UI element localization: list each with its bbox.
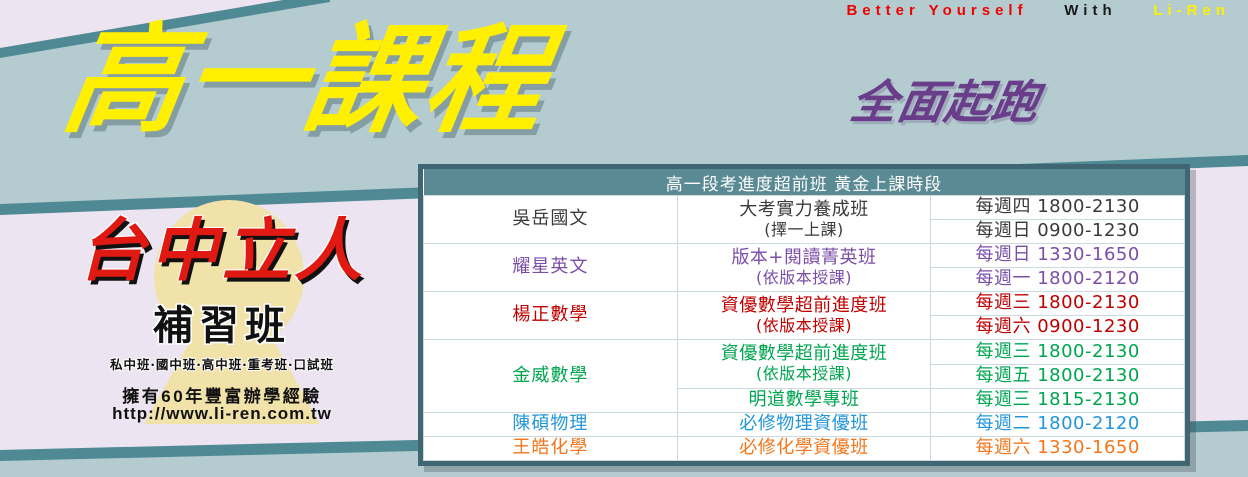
page-title: 高一課程 (56, 14, 557, 146)
table-row: 金威數學資優數學超前進度班(依版本授課)每週三 1800-2130 (424, 340, 1185, 364)
cell-teacher: 耀星英文 (424, 244, 678, 292)
schedule-table: 高一段考進度超前班 黃金上課時段 吳岳國文大考實力養成班(擇一上課)每週四 18… (423, 169, 1185, 461)
tagline-black: With (1064, 2, 1116, 19)
cell-teacher: 陳碩物理 (424, 412, 678, 436)
cell-time: 每週六 1330-1650 (931, 436, 1185, 460)
cell-course: 資優數學超前進度班(依版本授課) (677, 292, 931, 340)
cell-time: 每週三 1800-2130 (931, 340, 1185, 364)
cell-course-note: (依版本授課) (680, 269, 929, 288)
logo-website-url[interactable]: http://www.li-ren.com.tw (36, 404, 408, 424)
cell-time: 每週六 0900-1230 (931, 316, 1185, 340)
logo-class-types: 私中班‧國中班‧高中班‧重考班‧口試班 (36, 354, 408, 373)
table-header-row: 高一段考進度超前班 黃金上課時段 (424, 169, 1185, 196)
logo: 台中立人 補習班 私中班‧國中班‧高中班‧重考班‧口試班 擁有60年豐富辦學經驗… (36, 196, 408, 426)
cell-teacher: 王皓化學 (424, 436, 678, 460)
tagline-red: Better Yourself (846, 2, 1027, 19)
schedule-table-card: 高一段考進度超前班 黃金上課時段 吳岳國文大考實力養成班(擇一上課)每週四 18… (418, 164, 1190, 466)
table-row: 耀星英文版本+閱讀菁英班(依版本授課)每週日 1330-1650 (424, 244, 1185, 268)
table-row: 王皓化學必修化學資優班每週六 1330-1650 (424, 436, 1185, 460)
schedule-header-title: 高一段考進度超前班 黃金上課時段 (424, 169, 1185, 196)
cell-teacher: 金威數學 (424, 340, 678, 412)
table-body: 吳岳國文大考實力養成班(擇一上課)每週四 1800-2130每週日 0900-1… (424, 196, 1185, 461)
cell-course: 必修物理資優班 (677, 412, 931, 436)
cell-course-note: (擇一上課) (680, 221, 929, 240)
cell-time: 每週二 1800-2120 (931, 412, 1185, 436)
cell-time: 每週一 1800-2120 (931, 268, 1185, 292)
cell-time: 每週日 1330-1650 (931, 244, 1185, 268)
cell-course-note: (依版本授課) (680, 365, 929, 384)
table-row: 楊正數學資優數學超前進度班(依版本授課)每週三 1800-2130 (424, 292, 1185, 316)
cell-time: 每週三 1815-2130 (931, 388, 1185, 412)
poster-stage: Better Yourself With Li-Ren 高一課程 全面起跑 台中… (0, 0, 1248, 477)
logo-brand-sub: 補習班 (36, 306, 408, 346)
cell-teacher: 楊正數學 (424, 292, 678, 340)
cell-teacher: 吳岳國文 (424, 196, 678, 244)
cell-course: 資優數學超前進度班(依版本授課) (677, 340, 931, 388)
cell-time: 每週三 1800-2130 (931, 292, 1185, 316)
cell-course: 必修化學資優班 (677, 436, 931, 460)
cell-time: 每週日 0900-1230 (931, 220, 1185, 244)
page-subtitle: 全面起跑 (846, 66, 1046, 132)
table-row: 吳岳國文大考實力養成班(擇一上課)每週四 1800-2130 (424, 196, 1185, 220)
cell-course: 大考實力養成班(擇一上課) (677, 196, 931, 244)
cell-course: 明道數學專班 (677, 388, 931, 412)
cell-course-note: (依版本授課) (680, 317, 929, 336)
table-row: 陳碩物理必修物理資優班每週二 1800-2120 (424, 412, 1185, 436)
tagline-yellow: Li-Ren (1153, 2, 1230, 19)
logo-brand: 台中立人 (36, 218, 408, 286)
cell-course: 版本+閱讀菁英班(依版本授課) (677, 244, 931, 292)
cell-time: 每週五 1800-2130 (931, 364, 1185, 388)
cell-time: 每週四 1800-2130 (931, 196, 1185, 220)
